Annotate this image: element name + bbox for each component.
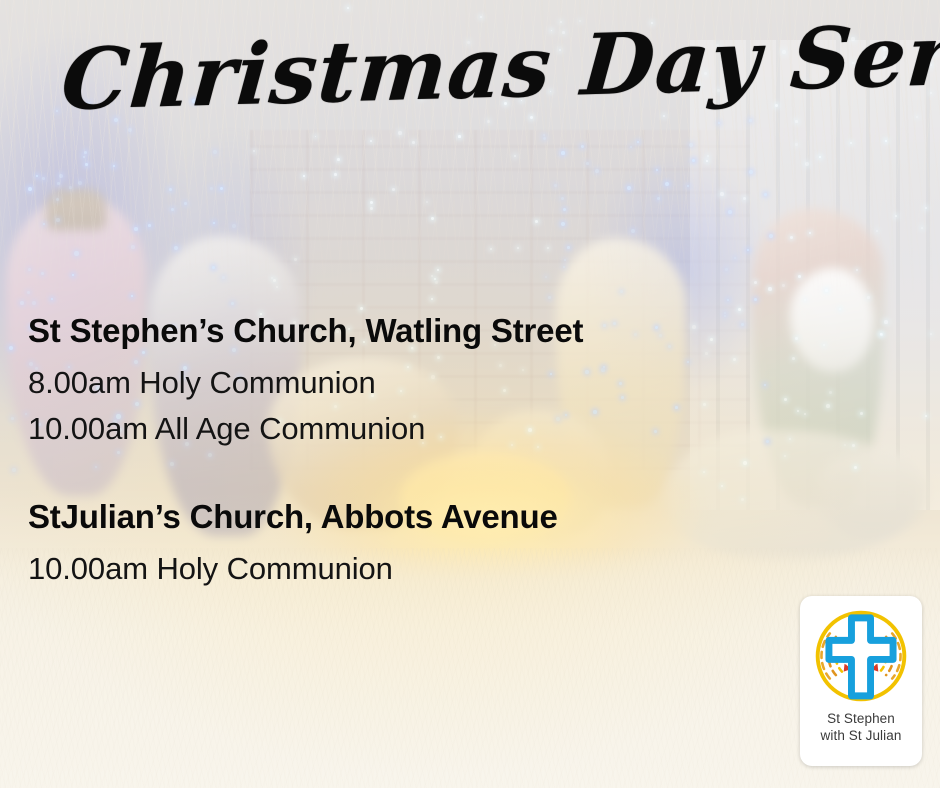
venue-name-st-julians: StJulian’s Church, Abbots Avenue bbox=[28, 498, 558, 536]
logo-caption-line-1: St Stephen bbox=[821, 710, 902, 727]
service-time-st-stephens-2: 10.00am All Age Communion bbox=[28, 406, 583, 452]
poster-content: Christmas Day Services St Stephen’s Chur… bbox=[0, 0, 940, 788]
service-time-st-stephens-1: 8.00am Holy Communion bbox=[28, 360, 583, 406]
venue-name-st-stephens: St Stephen’s Church, Watling Street bbox=[28, 312, 583, 350]
service-time-st-julians-1: 10.00am Holy Communion bbox=[28, 546, 558, 592]
logo-caption: St Stephen with St Julian bbox=[821, 710, 902, 744]
christmas-services-poster: Christmas Day Services St Stephen’s Chur… bbox=[0, 0, 940, 788]
service-block-st-stephens: St Stephen’s Church, Watling Street 8.00… bbox=[28, 312, 583, 452]
service-block-st-julians: StJulian’s Church, Abbots Avenue 10.00am… bbox=[28, 498, 558, 592]
church-logo-card: St Stephen with St Julian bbox=[800, 596, 922, 766]
cross-with-rays-icon bbox=[809, 604, 913, 708]
logo-caption-line-2: with St Julian bbox=[821, 727, 902, 744]
poster-title: Christmas Day Services bbox=[59, 13, 895, 124]
